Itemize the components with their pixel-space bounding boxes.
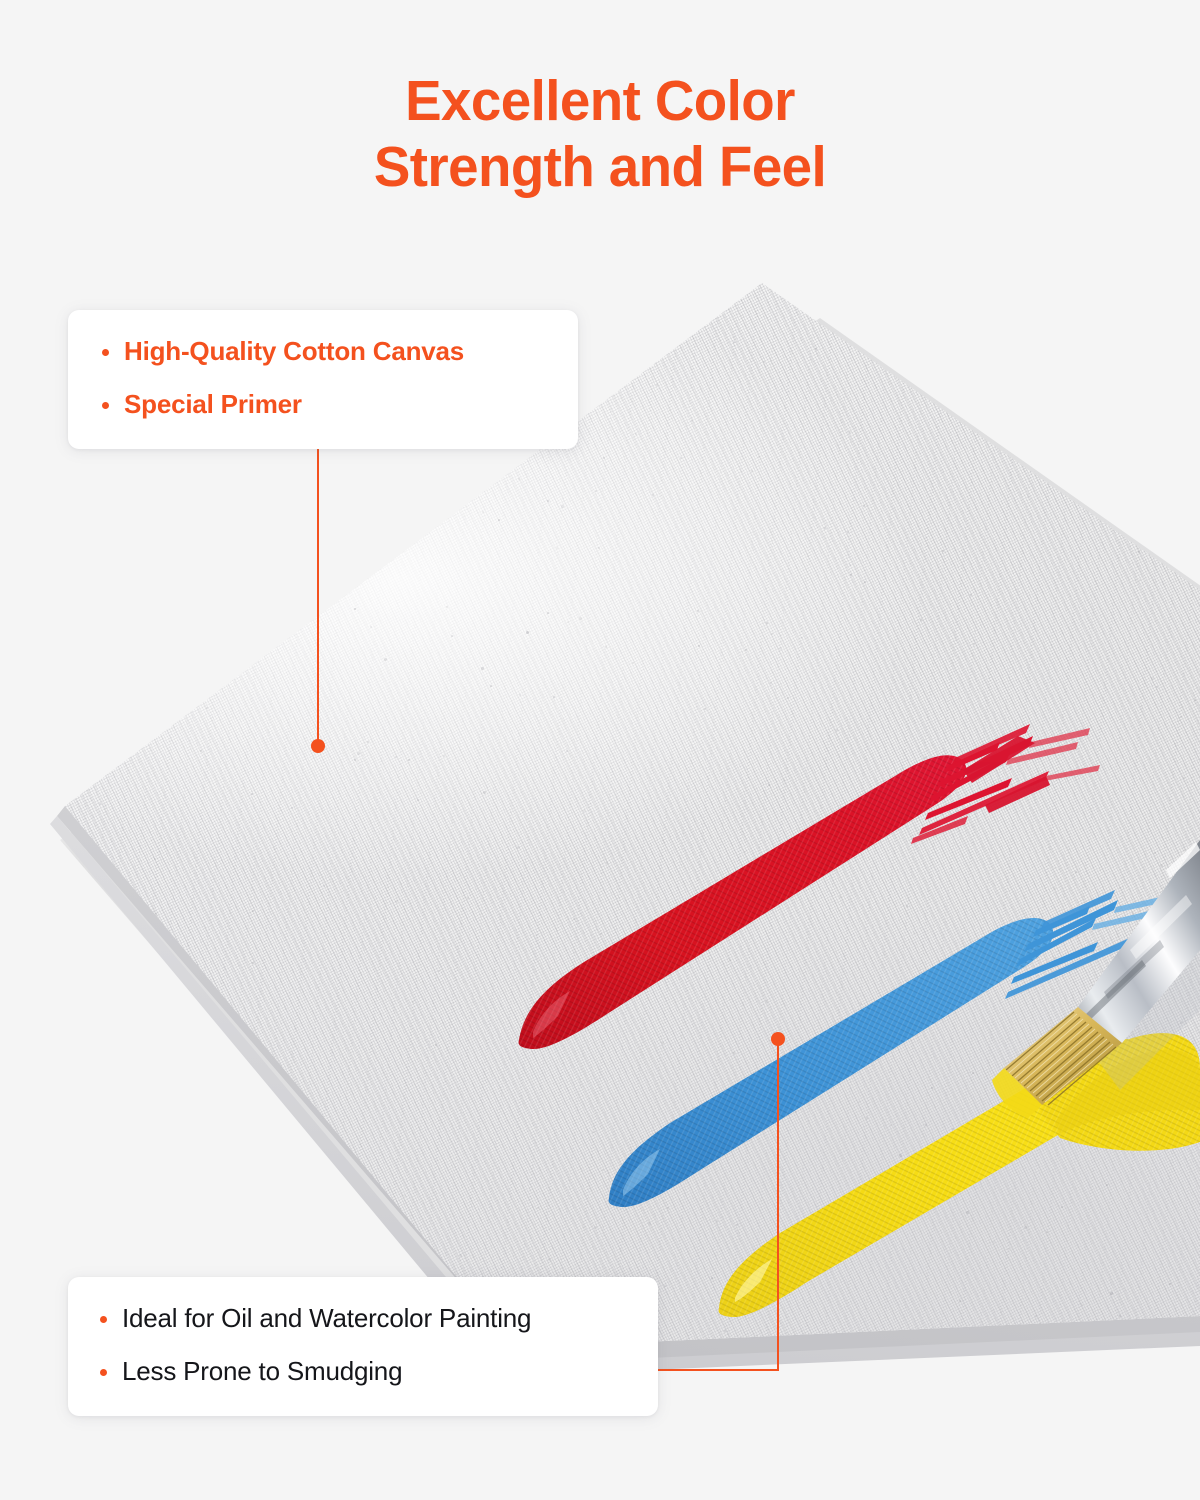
bullet-dot-icon — [100, 1316, 107, 1323]
leader-dot-canvas-surface — [311, 739, 325, 753]
leader-line-top — [317, 449, 319, 746]
feature-label: High-Quality Cotton Canvas — [124, 336, 464, 367]
feature-label: Special Primer — [124, 389, 302, 420]
feature-list-bottom: Ideal for Oil and Watercolor Painting Le… — [68, 1277, 658, 1387]
leader-line-bottom-vertical — [777, 1039, 779, 1371]
feature-list-top: High-Quality Cotton Canvas Special Prime… — [68, 310, 578, 420]
feature-label: Ideal for Oil and Watercolor Painting — [122, 1303, 531, 1334]
bullet-dot-icon — [102, 349, 109, 356]
infographic-root: Excellent Color Strength and Feel — [0, 0, 1200, 1500]
callout-card-canvas-features: High-Quality Cotton Canvas Special Prime… — [68, 310, 578, 449]
bullet-dot-icon — [102, 402, 109, 409]
list-item: Less Prone to Smudging — [100, 1356, 658, 1387]
title-line-2: Strength and Feel — [24, 134, 1176, 200]
list-item: Ideal for Oil and Watercolor Painting — [100, 1303, 658, 1334]
list-item: Special Primer — [102, 389, 578, 420]
leader-line-bottom-horizontal — [658, 1369, 779, 1371]
bullet-dot-icon — [100, 1369, 107, 1376]
title-line-1: Excellent Color — [24, 68, 1176, 134]
feature-label: Less Prone to Smudging — [122, 1356, 402, 1387]
page-title: Excellent Color Strength and Feel — [24, 68, 1176, 200]
callout-card-usage-features: Ideal for Oil and Watercolor Painting Le… — [68, 1277, 658, 1416]
list-item: High-Quality Cotton Canvas — [102, 336, 578, 367]
